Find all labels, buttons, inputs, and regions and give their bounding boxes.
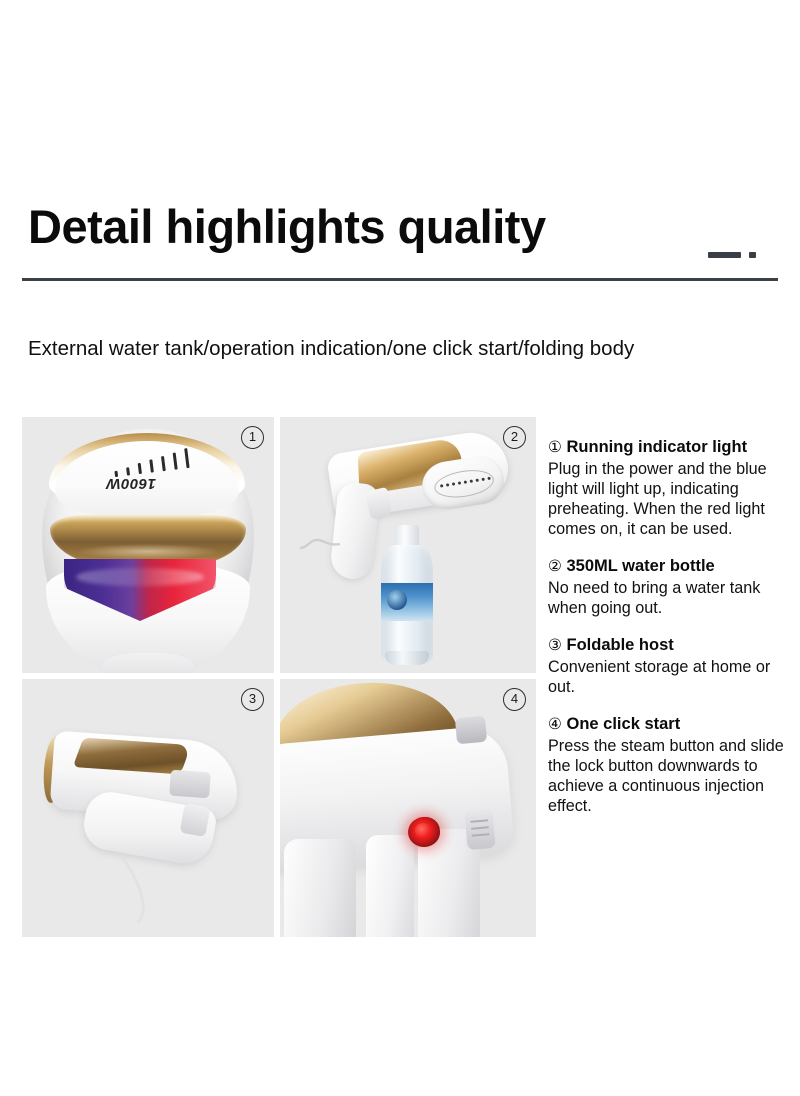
feature-item: ④ One click start Press the steam button… [548,714,796,816]
feature-body: Convenient storage at home or out. [548,657,796,697]
title-divider [22,278,778,281]
feature-item: ① Running indicator light Plug in the po… [548,437,796,539]
folded-latch [180,803,211,837]
panel-badge-3: 3 [241,688,264,711]
feature-number: ③ [548,637,562,654]
soleplate-hole-ring [432,466,495,501]
feature-item: ③ Foldable host Convenient storage at ho… [548,635,796,697]
feature-heading-text: One click start [567,715,681,733]
product-photo-one-click-start: 4 [280,679,536,937]
lock-button [464,808,495,850]
feature-heading: ③ Foldable host [548,635,796,656]
feature-body: Press the steam button and slide the loc… [548,736,796,816]
panel-badge-1: 1 [241,426,264,449]
bottle-neck [395,525,419,547]
feature-heading: ① Running indicator light [548,437,796,458]
wattage-label: 1600W [106,475,156,492]
bottle-label [381,583,433,621]
feature-item: ② 350ML water bottle No need to bring a … [548,556,796,618]
bottle-base [385,651,429,665]
feature-heading-text: Running indicator light [567,438,748,456]
title-dash [708,252,741,258]
feature-heading-text: 350ML water bottle [567,557,715,575]
closeup-side-button [455,716,487,745]
feature-heading-text: Foldable host [567,636,674,654]
feature-heading: ② 350ML water bottle [548,556,796,577]
folded-grip-detail [169,770,211,799]
feature-number: ④ [548,716,562,733]
panel-badge-4: 4 [503,688,526,711]
closeup-left-column [284,839,356,937]
closeup-middle-column [366,835,414,937]
title-dash-dot-mark [708,251,760,261]
page-title: Detail highlights quality [28,203,546,250]
power-cord [298,533,342,553]
product-photo-indicator-light: 1600W 1 [22,417,274,673]
product-photo-water-bottle: 2 [280,417,536,673]
page-subtitle: External water tank/operation indication… [28,337,634,361]
feature-heading: ④ One click start [548,714,796,735]
water-bottle [376,525,438,665]
feature-number: ① [548,439,562,456]
product-photo-foldable-host: 3 [22,679,274,937]
product-photo-grid: 1600W 1 2 [22,417,536,937]
panel-badge-2: 2 [503,426,526,449]
feature-list: ① Running indicator light Plug in the po… [548,437,796,833]
steamer-neck [100,653,196,673]
title-dot [749,252,756,258]
folded-power-cord [116,855,166,925]
feature-number: ② [548,558,562,575]
feature-body: Plug in the power and the blue light wil… [548,459,796,539]
feature-body: No need to bring a water tank when going… [548,578,796,618]
